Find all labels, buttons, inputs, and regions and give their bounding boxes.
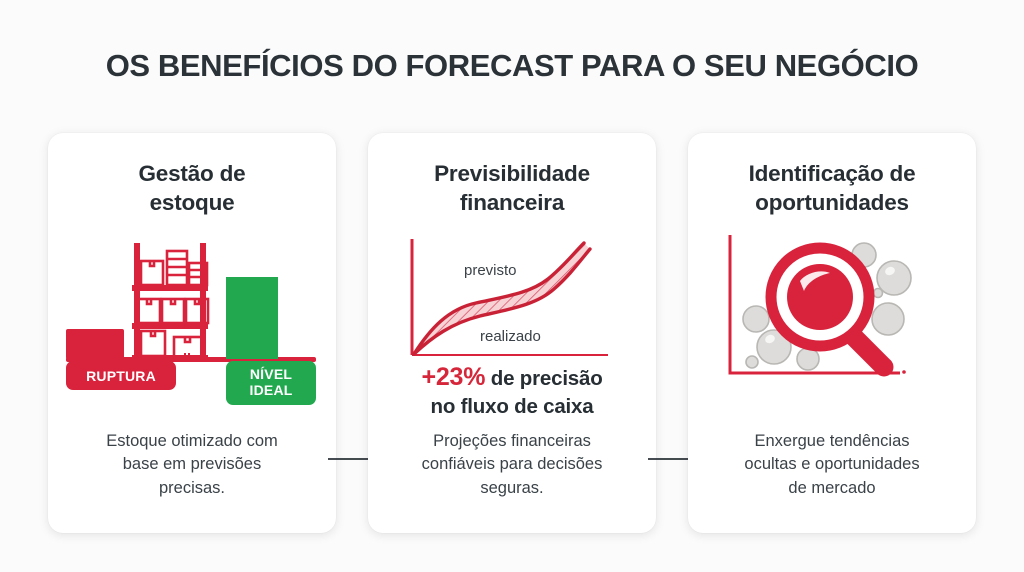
chart-label-realizado: realizado — [480, 328, 541, 345]
nivel-ideal-label-line2: IDEAL — [250, 383, 293, 399]
ruptura-badge[interactable]: RUPTURA — [66, 361, 176, 390]
cards-container: Gestão de estoque — [0, 133, 1024, 533]
card-title: Previsibilidade financeira — [382, 160, 642, 218]
stat-line1: +23% de precisão — [382, 361, 642, 394]
ruptura-badge-label: RUPTURA — [86, 368, 156, 384]
page-title: OS BENEFÍCIOS DO FORECAST PARA O SEU NEG… — [0, 48, 1024, 84]
magnifying-glass-bubbles-icon — [688, 233, 976, 393]
stat-suffix: de precisão — [485, 367, 602, 390]
chart-label-previsto: previsto — [464, 262, 517, 279]
card-title: Identificação de oportunidades — [702, 160, 962, 218]
card-title: Gestão de estoque — [62, 160, 322, 218]
nivel-ideal-label-line1: NÍVEL — [250, 367, 293, 383]
card-previsibilidade-financeira[interactable]: Previsibilidade financeira — [368, 133, 656, 533]
card-gestao-de-estoque[interactable]: Gestão de estoque — [48, 133, 336, 533]
nivel-ideal-badge[interactable]: NÍVEL IDEAL — [226, 361, 316, 405]
stat-percentage: +23% — [421, 363, 485, 391]
stat-block: +23% de precisão no fluxo de caixa — [382, 361, 642, 420]
infographic-page: OS BENEFÍCIOS DO FORECAST PARA O SEU NEG… — [0, 0, 1024, 572]
card-description: Enxergue tendências ocultas e oportunida… — [700, 430, 964, 500]
stat-line2: no fluxo de caixa — [382, 394, 642, 421]
card-description: Projeções financeiras confiáveis para de… — [380, 430, 644, 500]
card-description: Estoque otimizado com base em previsões … — [60, 430, 324, 500]
card-identificacao-de-oportunidades[interactable]: Identificação de oportunidades — [688, 133, 976, 533]
